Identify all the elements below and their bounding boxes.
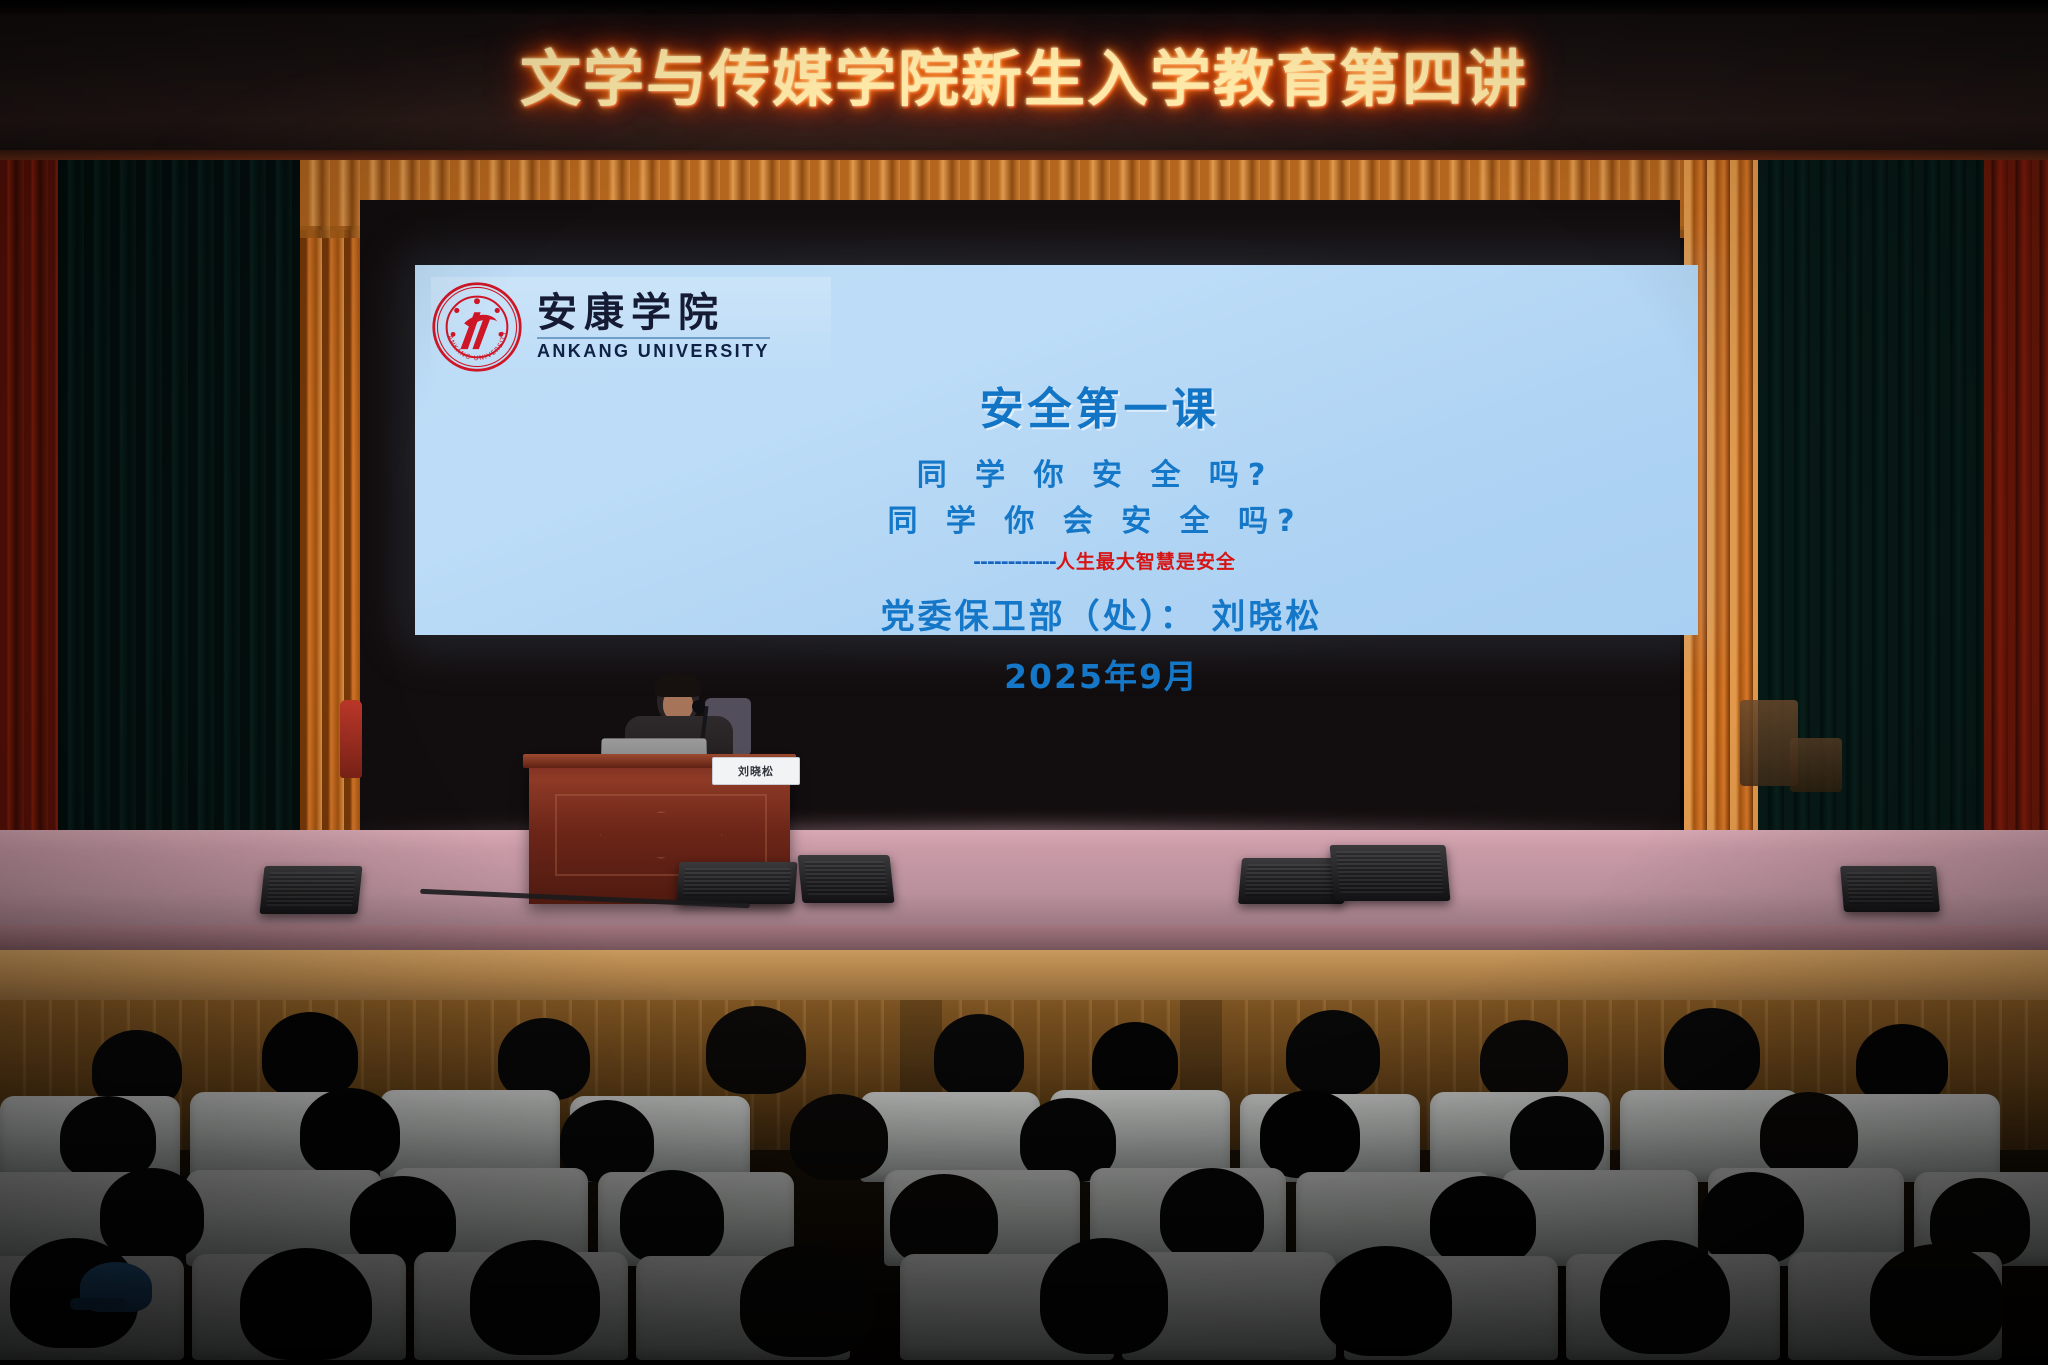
presenter-hair xyxy=(655,673,701,697)
stage-monitor-speaker xyxy=(797,855,894,903)
audience-head xyxy=(1260,1090,1360,1178)
slide-presenter-line: 党委保卫部（处）： 刘晓松 xyxy=(415,589,1698,638)
fire-extinguisher xyxy=(340,700,362,778)
audience-head xyxy=(1856,1024,1948,1104)
stage-monitor-speaker xyxy=(1330,845,1451,901)
audience-head xyxy=(790,1094,888,1180)
audience-head xyxy=(60,1096,156,1180)
audience-head xyxy=(1092,1022,1178,1100)
audience-head xyxy=(1700,1172,1804,1264)
speaker-nameplate-text: 刘晓松 xyxy=(738,763,774,779)
audience-head xyxy=(706,1006,806,1094)
audience-head xyxy=(934,1014,1024,1098)
ankang-university-seal-icon: ANKANG UNIVERSITY xyxy=(431,281,523,373)
curtain-red-left xyxy=(0,160,62,860)
audience-head xyxy=(1760,1092,1858,1178)
slide-tagline-text: 人生最大智慧是安全 xyxy=(1056,551,1236,573)
logo-name-group: 安康学院 ANKANG UNIVERSITY xyxy=(537,292,770,362)
audience-head xyxy=(1510,1096,1604,1180)
led-banner: 文学与传媒学院新生入学教育第四讲 xyxy=(0,28,2048,118)
audience-head xyxy=(498,1018,590,1100)
logo-divider xyxy=(537,337,770,339)
auditorium-seating-area xyxy=(0,1000,2048,1365)
audience-head xyxy=(1286,1010,1380,1096)
audience-head xyxy=(620,1170,724,1264)
podium-diamond-trim xyxy=(599,811,723,859)
lecture-hall-photo: 文学与传媒学院新生入学教育第四讲 xyxy=(0,0,2048,1365)
slide-title: 安全第一课 xyxy=(415,373,1698,437)
audience-head xyxy=(240,1248,372,1360)
stage-monitor-speaker xyxy=(677,862,798,904)
audience-head xyxy=(470,1240,600,1355)
audience-head xyxy=(300,1088,400,1176)
logo-name-chinese: 安康学院 xyxy=(537,292,770,334)
audience-blue-cap xyxy=(80,1262,152,1312)
logo-name-english: ANKANG UNIVERSITY xyxy=(537,341,770,362)
stage-monitor-speaker xyxy=(259,866,362,914)
audience-head xyxy=(1160,1168,1264,1262)
audience-head xyxy=(1600,1240,1730,1354)
audience-head xyxy=(1480,1020,1568,1100)
audience-head xyxy=(1320,1246,1452,1356)
audience-head xyxy=(1430,1176,1536,1266)
curtain-green-left xyxy=(58,160,308,860)
led-banner-text: 文学与传媒学院新生入学教育第四讲 xyxy=(520,29,1528,118)
audience-head xyxy=(1664,1008,1760,1096)
slide-logo-block: ANKANG UNIVERSITY 安康学院 ANKANG UNIVERSITY xyxy=(431,277,831,377)
slide-question-two: 同 学 你 会 安 全 吗? xyxy=(415,496,1698,540)
audience-head xyxy=(1040,1238,1168,1354)
slide-question-one: 同 学 你 安 全 吗? xyxy=(415,450,1698,494)
slide-date-line: 2025年9月 xyxy=(415,650,1698,698)
audience-head xyxy=(890,1174,998,1266)
audience-head xyxy=(1870,1244,2004,1356)
speaker-nameplate: 刘晓松 xyxy=(712,757,800,785)
projection-screen: ANKANG UNIVERSITY 安康学院 ANKANG UNIVERSITY… xyxy=(415,265,1698,635)
slide-tagline-dashes: ------------ xyxy=(973,551,1056,573)
side-chair-right-second xyxy=(1790,738,1842,792)
curtain-red-right xyxy=(1984,160,2048,860)
microphone-head-icon xyxy=(692,700,705,713)
audience-head xyxy=(740,1245,874,1357)
slide-tagline: ------------人生最大智慧是安全 xyxy=(415,547,1698,574)
audience-head xyxy=(262,1012,358,1098)
audience-head xyxy=(100,1168,204,1260)
stage-monitor-speaker xyxy=(1840,866,1940,912)
